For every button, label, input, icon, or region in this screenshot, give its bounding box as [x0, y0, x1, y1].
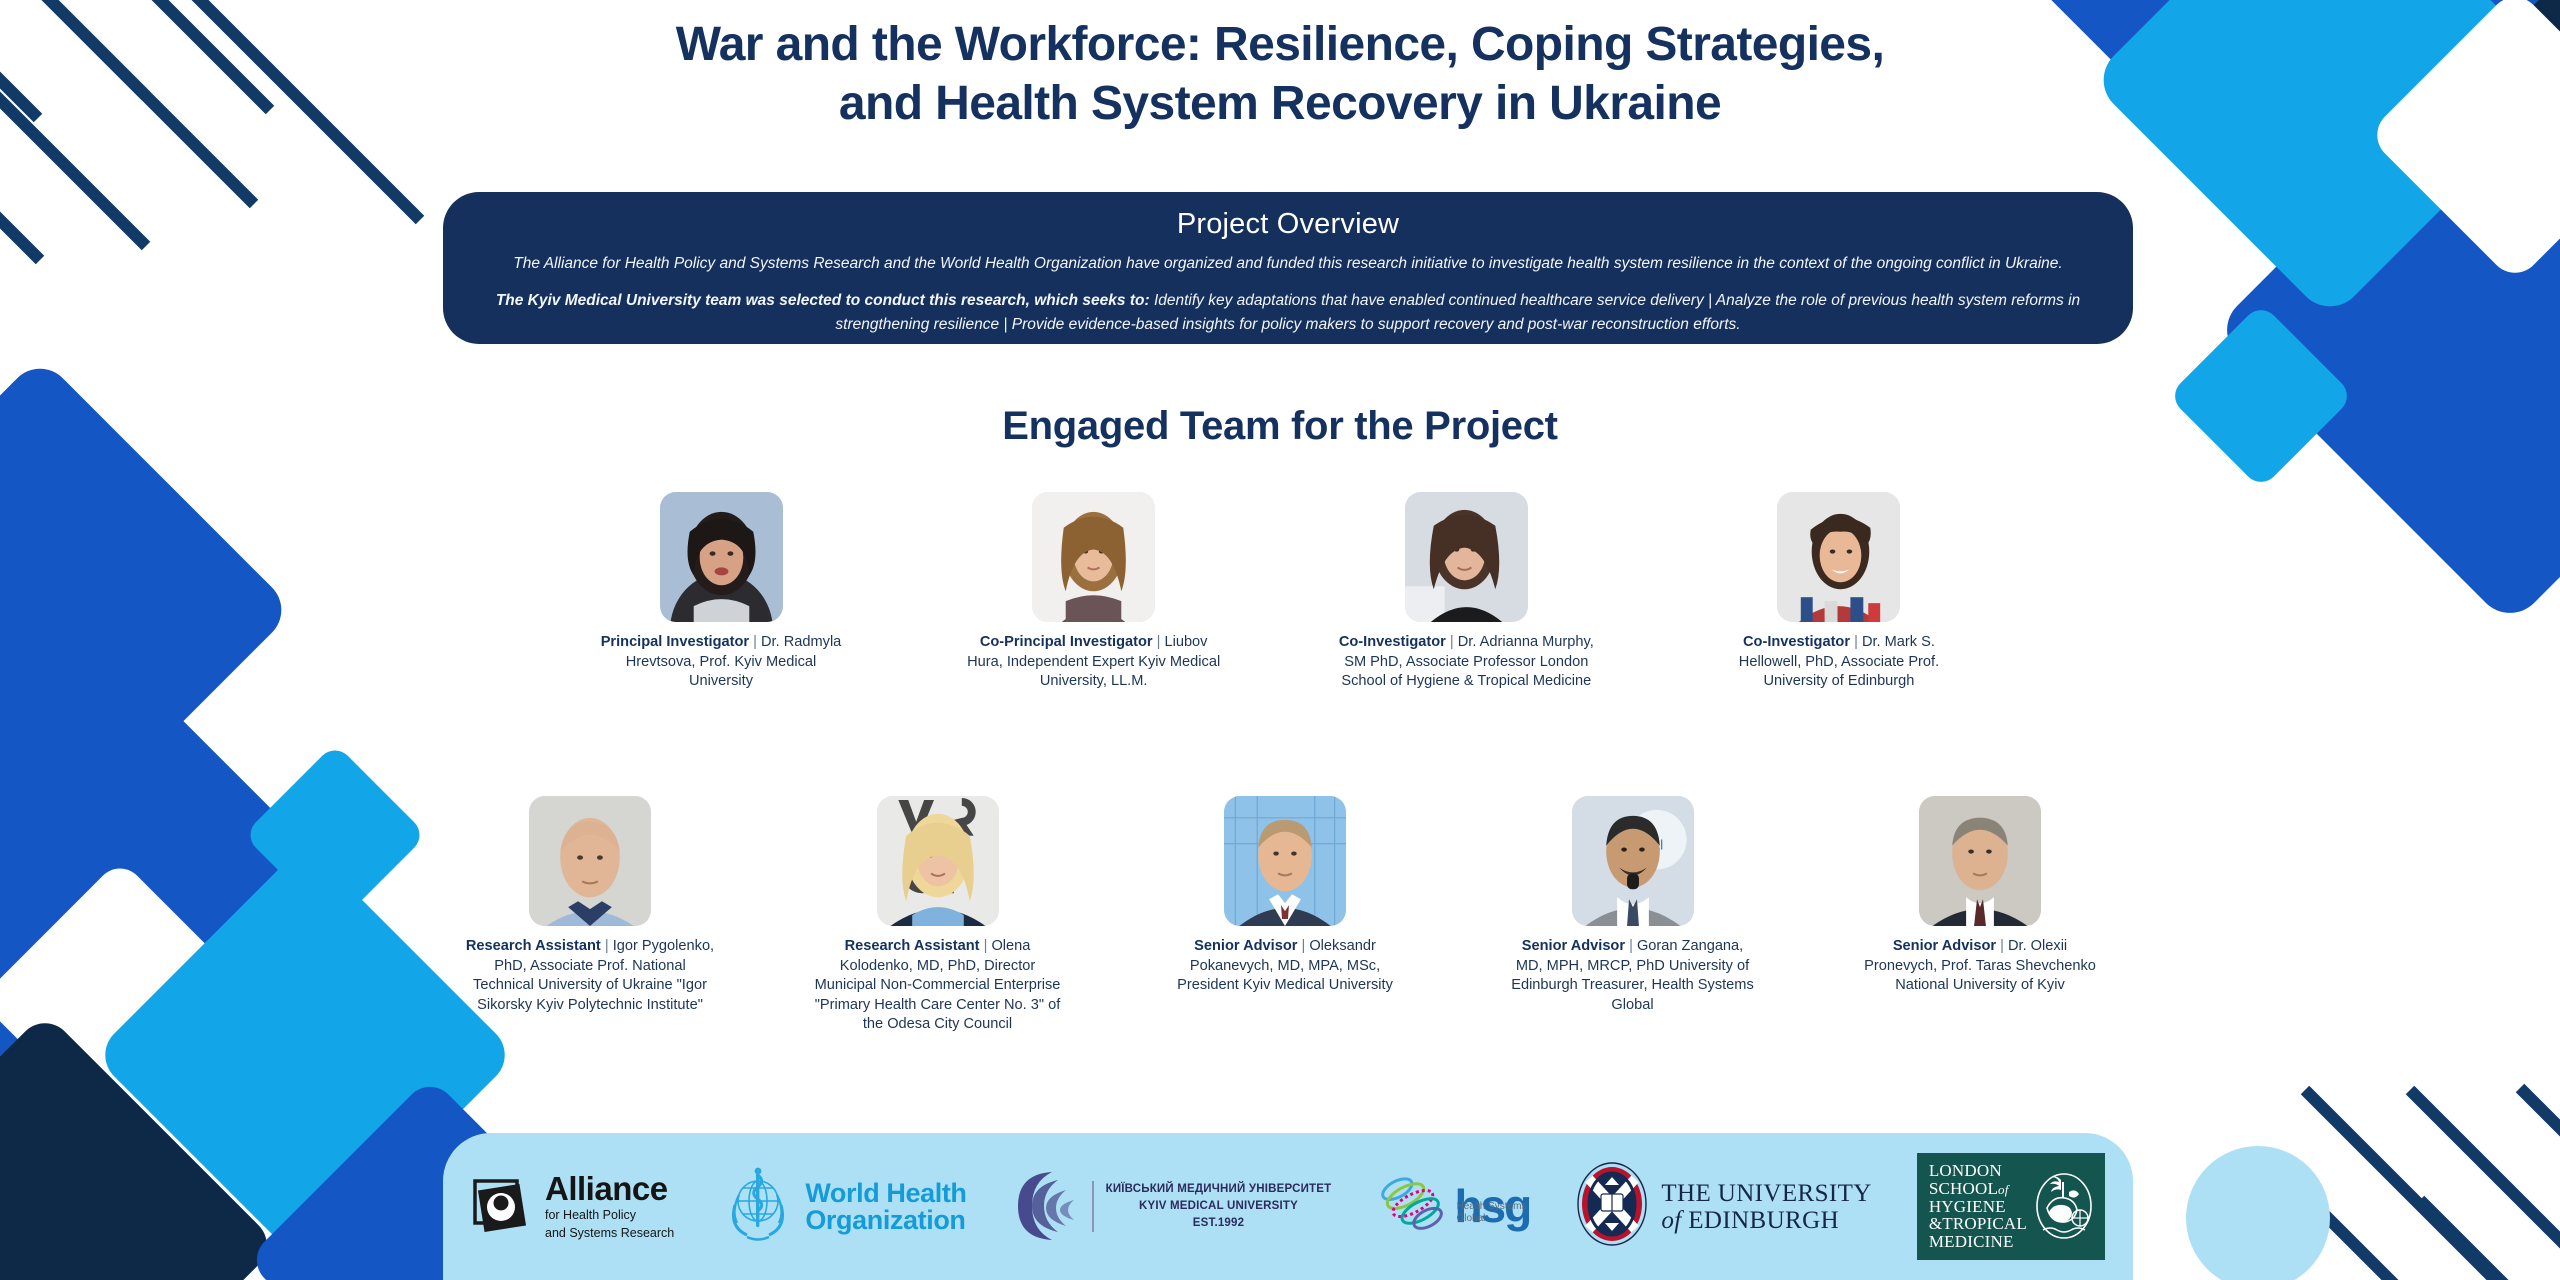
member-role: Senior Advisor: [1194, 938, 1297, 954]
member-separator: |: [1625, 938, 1637, 954]
logo-who: World Health Organization: [719, 1165, 966, 1248]
hsg-wordmark: hsg Health Systems Global: [1454, 1187, 1530, 1226]
member-role: Co-Investigator: [1743, 634, 1850, 650]
edinburgh-crest-icon: [1575, 1161, 1649, 1252]
stripes-bottom-right: [2225, 1088, 2560, 1280]
member-photo: [1032, 492, 1155, 622]
alliance-name: Alliance: [545, 1172, 674, 1207]
logo-hsg: hsg Health Systems Global: [1376, 1168, 1530, 1245]
alliance-emblem-icon: [471, 1175, 533, 1237]
stripes-top-left: [0, 0, 420, 260]
overview-paragraph-2: The Kyiv Medical University team was sel…: [479, 289, 2097, 336]
member-role: Principal Investigator: [601, 634, 749, 650]
member-role: Co-Principal Investigator: [980, 634, 1153, 650]
team-member: Principal Investigator | Dr. Radmyla Hre…: [590, 492, 852, 692]
member-photo: [660, 492, 783, 622]
member-photo: [529, 796, 651, 926]
member-caption: Co-Investigator | Dr. Mark S. Hellowell,…: [1710, 633, 1968, 692]
edinburgh-line-2: of EDINBURGH: [1661, 1207, 1871, 1234]
member-separator: |: [601, 938, 613, 954]
member-role: Research Assistant: [466, 938, 601, 954]
member-caption: Senior Advisor | Goran Zangana, MD, MPH,…: [1508, 937, 1758, 1015]
member-role: Senior Advisor: [1522, 938, 1625, 954]
page-title: War and the Workforce: Resilience, Copin…: [430, 16, 2130, 133]
edinburgh-name: EDINBURGH: [1688, 1207, 1839, 1234]
accent-circle: [2186, 1146, 2330, 1280]
member-caption: Co-Principal Investigator | Liubov Hura,…: [965, 633, 1223, 692]
edinburgh-wordmark: THE UNIVERSITY of EDINBURGH: [1661, 1180, 1871, 1234]
member-photo: [1405, 492, 1528, 622]
project-overview-card: Project Overview The Alliance for Health…: [443, 192, 2133, 344]
lshtm-line-4: &TROPICAL: [1929, 1215, 2027, 1233]
kmu-line-3: EST.1992: [1106, 1215, 1332, 1232]
team-member: Research Assistant | Olena Kolodenko, MD…: [788, 796, 1088, 1035]
kmu-line-1: КИЇВСЬКИЙ МЕДИЧНИЙ УНІВЕРСИТЕТ: [1106, 1181, 1332, 1198]
section-heading: Engaged Team for the Project: [0, 404, 2560, 449]
lshtm-line-2: SCHOOLof: [1929, 1180, 2027, 1198]
logo-kmu: КИЇВСЬКИЙ МЕДИЧНИЙ УНІВЕРСИТЕТ KYIV MEDI…: [1012, 1168, 1332, 1245]
overview-paragraph-2-lead: The Kyiv Medical University team was sel…: [496, 292, 1150, 309]
kmu-swirl-icon: [1012, 1168, 1080, 1245]
member-photo: [1919, 796, 2041, 926]
alliance-subtitle-2: and Systems Research: [545, 1226, 674, 1242]
member-caption: Research Assistant | Igor Pygolenko, PhD…: [465, 937, 715, 1015]
member-photo: [877, 796, 999, 926]
member-separator: |: [1850, 634, 1862, 650]
team-member: Co-Investigator | Dr. Mark S. Hellowell,…: [1708, 492, 1970, 692]
hsg-subtitle-1: Health Systems: [1456, 1201, 1526, 1212]
member-role: Senior Advisor: [1893, 938, 1996, 954]
who-wordmark: World Health Organization: [805, 1180, 966, 1234]
lshtm-line-3: HYGIENE: [1929, 1198, 2027, 1216]
member-separator: |: [1996, 938, 2008, 954]
team-member: Co-Principal Investigator | Liubov Hura,…: [963, 492, 1225, 692]
alliance-wordmark: Alliance for Health Policy and Systems R…: [545, 1172, 674, 1242]
hsg-subtitle: Health Systems Global: [1456, 1201, 1526, 1224]
logo-edinburgh: THE UNIVERSITY of EDINBURGH: [1575, 1161, 1871, 1252]
lshtm-wordmark: LONDON SCHOOLof HYGIENE &TROPICAL MEDICI…: [1929, 1162, 2027, 1250]
lshtm-seal-icon: [2035, 1172, 2093, 1240]
team-member: obal Senior Advisor | Goran Zangana, MD,…: [1483, 796, 1783, 1035]
edinburgh-line-1: THE UNIVERSITY: [1661, 1180, 1871, 1207]
alliance-subtitle-1: for Health Policy: [545, 1208, 674, 1224]
member-role: Co-Investigator: [1339, 634, 1446, 650]
team-member: Co-Investigator | Dr. Adrianna Murphy, S…: [1335, 492, 1597, 692]
team-member: Senior Advisor | Dr. Olexii Pronevych, P…: [1830, 796, 2130, 1035]
hsg-spiral-icon: [1376, 1168, 1448, 1245]
kmu-wordmark: КИЇВСЬКИЙ МЕДИЧНИЙ УНІВЕРСИТЕТ KYIV MEDI…: [1092, 1181, 1332, 1231]
edinburgh-of: of: [1661, 1207, 1681, 1234]
member-caption: Research Assistant | Olena Kolodenko, MD…: [813, 937, 1063, 1035]
team-row-1: Principal Investigator | Dr. Radmyla Hre…: [590, 492, 1970, 692]
member-role: Research Assistant: [845, 938, 980, 954]
hsg-subtitle-2: Global: [1456, 1213, 1485, 1224]
title-line-1: War and the Workforce: Resilience, Copin…: [430, 16, 2130, 75]
team-member: Research Assistant | Igor Pygolenko, PhD…: [440, 796, 740, 1035]
overview-paragraph-1: The Alliance for Health Policy and Syste…: [479, 252, 2097, 275]
member-photo: [1777, 492, 1900, 622]
poster-canvas: War and the Workforce: Resilience, Copin…: [0, 0, 2560, 1280]
logo-alliance: Alliance for Health Policy and Systems R…: [471, 1172, 674, 1242]
member-caption: Co-Investigator | Dr. Adrianna Murphy, S…: [1337, 633, 1595, 692]
member-separator: |: [1297, 938, 1309, 954]
kmu-line-2: KYIV MEDICAL UNIVERSITY: [1106, 1198, 1332, 1215]
lshtm-school: SCHOOL: [1929, 1179, 1998, 1198]
who-line-2: Organization: [805, 1207, 966, 1234]
logo-lshtm: LONDON SCHOOLof HYGIENE &TROPICAL MEDICI…: [1917, 1153, 2105, 1259]
member-separator: |: [1153, 634, 1165, 650]
lshtm-line-1: LONDON: [1929, 1162, 2027, 1180]
member-caption: Senior Advisor | Dr. Olexii Pronevych, P…: [1855, 937, 2105, 996]
partner-logos-bar: Alliance for Health Policy and Systems R…: [443, 1133, 2133, 1280]
member-separator: |: [980, 938, 992, 954]
member-photo: [1224, 796, 1346, 926]
title-line-2: and Health System Recovery in Ukraine: [430, 75, 2130, 134]
team-row-2: Research Assistant | Igor Pygolenko, PhD…: [440, 796, 2130, 1035]
lshtm-line-5: MEDICINE: [1929, 1233, 2027, 1251]
lshtm-of: of: [1998, 1182, 2009, 1197]
member-separator: |: [749, 634, 761, 650]
overview-heading: Project Overview: [479, 208, 2097, 241]
member-caption: Senior Advisor | Oleksandr Pokanevych, M…: [1160, 937, 1410, 996]
member-caption: Principal Investigator | Dr. Radmyla Hre…: [592, 633, 850, 692]
team-member: Senior Advisor | Oleksandr Pokanevych, M…: [1135, 796, 1435, 1035]
member-photo: obal: [1572, 796, 1694, 926]
member-separator: |: [1446, 634, 1458, 650]
who-line-1: World Health: [805, 1180, 966, 1207]
who-emblem-icon: [719, 1165, 797, 1248]
